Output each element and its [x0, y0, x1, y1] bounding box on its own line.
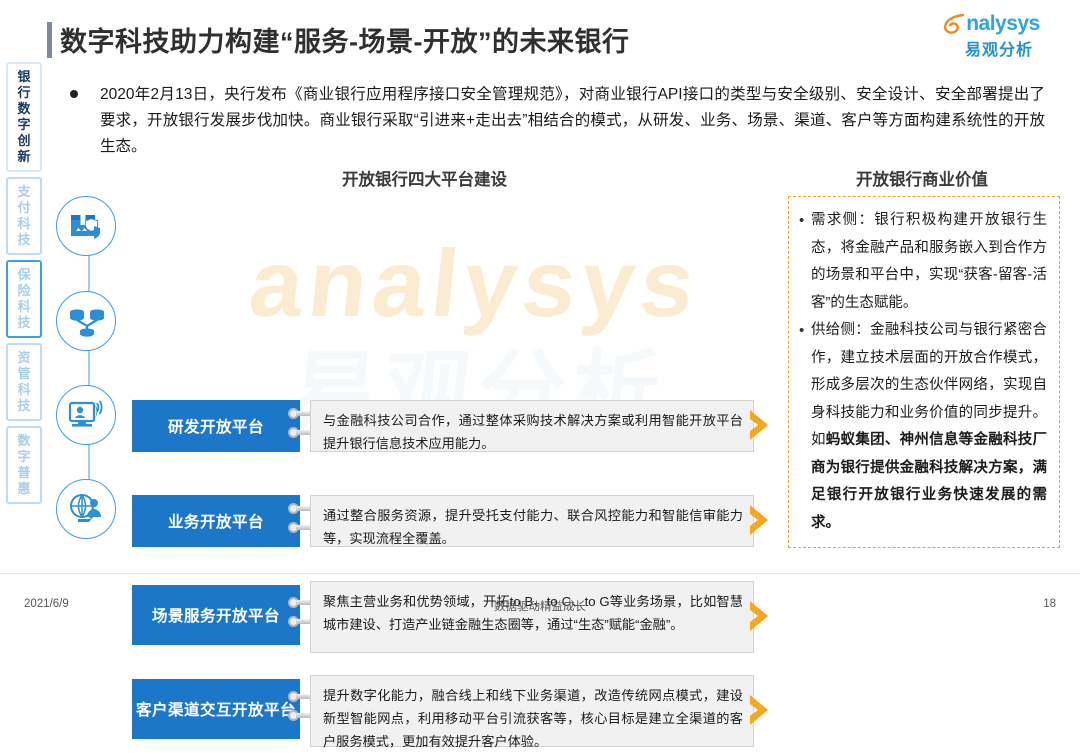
sidebar-item-digital-inclusive-finance[interactable]: 数字普惠 [6, 426, 42, 504]
sidebar-item-label: 数字普惠 [17, 433, 31, 497]
sidebar-item-payment-tech[interactable]: 支付科技 [6, 177, 42, 255]
page-title: 数字科技助力构建“服务-场景-开放”的未来银行 [60, 20, 629, 59]
business-value-text-2-plain: 供给侧：金融科技公司与银行紧密合作，建立技术层面的开放合作模式，形成多层次的生态… [811, 322, 1047, 448]
logo-chinese-name: 易观分析 [940, 36, 1058, 60]
business-value-text-1: 需求侧：银行积极构建开放银行生态，将金融产品和服务嵌入到合作方的场景和平台中，实… [811, 207, 1047, 317]
sidebar-item-asset-management-tech[interactable]: 资管科技 [6, 343, 42, 421]
platform-name-box-1[interactable]: 研发开放平台 [132, 400, 300, 452]
page-header: 数字科技助力构建“服务-场景-开放”的未来银行 nalysys 易观分析 [0, 0, 1080, 70]
sidebar-item-label: 银行数字创新 [17, 69, 31, 165]
business-value-panel: • 需求侧：银行积极构建开放银行生态，将金融产品和服务嵌入到合作方的场景和平台中… [788, 196, 1060, 548]
logo-swoosh-icon [942, 12, 966, 36]
bullet-icon: • [799, 317, 811, 537]
analysys-logo: nalysys 易观分析 [940, 10, 1058, 62]
footer-page-number: 18 [1043, 598, 1056, 610]
screen-user-signal-icon [56, 385, 116, 445]
platform-name-label: 研发开放平台 [168, 415, 264, 437]
globe-user-icon [56, 479, 116, 539]
business-value-text-2-bold: 蚂蚁集团、神州信息等金融科技厂商为银行提供金融科技解决方案，满足银行开放银行业务… [811, 432, 1047, 531]
package-shield-icon [56, 196, 116, 256]
platform-desc-3: 聚焦主营业务和优势领域，开拓to B、to C、to G等业务场景，比如智慧城市… [310, 581, 754, 653]
platform-name-box-4[interactable]: 客户渠道交互开放平台 [132, 679, 300, 739]
business-value-item-2: • 供给侧：金融科技公司与银行紧密合作，建立技术层面的开放合作模式，形成多层次的… [799, 317, 1047, 537]
platform-name-label: 业务开放平台 [168, 510, 264, 532]
platform-name-box-2[interactable]: 业务开放平台 [132, 495, 300, 547]
flow-spine-line [88, 252, 90, 492]
platform-name-box-3[interactable]: 场景服务开放平台 [132, 585, 300, 645]
platform-desc-4: 提升数字化能力，融合线上和线下业务渠道，改造传统网点模式，建设新型智能网点，利用… [310, 675, 754, 747]
intro-text: 2020年2月13日，央行发布《商业银行应用程序接口安全管理规范》，对商业银行A… [100, 82, 1045, 160]
sidebar-item-label: 资管科技 [17, 350, 31, 414]
bullet-icon [70, 90, 78, 98]
sidebar-item-insurance-tech[interactable]: 保险科技 [6, 260, 42, 338]
platform-desc-2: 通过整合服务资源，提升受托支付能力、联合风控能力和智能信审能力等，实现流程全覆盖… [310, 495, 754, 547]
footer-divider [0, 573, 1080, 574]
chevron-right-icon [748, 408, 774, 442]
section-heading-business-value: 开放银行商业价值 [856, 166, 988, 190]
platform-desc-1: 与金融科技公司合作，通过整体采购技术解决方案或利用智能开放平台提升银行信息技术应… [310, 400, 754, 452]
intro-paragraph: 2020年2月13日，央行发布《商业银行应用程序接口安全管理规范》，对商业银行A… [70, 82, 1045, 160]
database-stack-icon [56, 291, 116, 351]
sidebar-item-label: 保险科技 [17, 267, 31, 331]
sidebar: 银行数字创新 支付科技 保险科技 资管科技 数字普惠 [6, 62, 46, 509]
footer-slogan: 数据驱动精益成长 [0, 598, 1080, 614]
sidebar-item-label: 支付科技 [17, 184, 31, 248]
section-heading-platforms: 开放银行四大平台建设 [342, 166, 507, 190]
title-accent-bar [47, 22, 52, 58]
sidebar-item-bank-digital-innovation[interactable]: 银行数字创新 [6, 62, 42, 172]
chevron-right-icon [748, 693, 774, 727]
logo-latin-row: nalysys [940, 10, 1058, 38]
chevron-right-icon [748, 503, 774, 537]
platform-name-label: 客户渠道交互开放平台 [136, 698, 296, 720]
business-value-item-1: • 需求侧：银行积极构建开放银行生态，将金融产品和服务嵌入到合作方的场景和平台中… [799, 207, 1047, 317]
business-value-text-2: 供给侧：金融科技公司与银行紧密合作，建立技术层面的开放合作模式，形成多层次的生态… [811, 317, 1047, 537]
bullet-icon: • [799, 207, 811, 317]
